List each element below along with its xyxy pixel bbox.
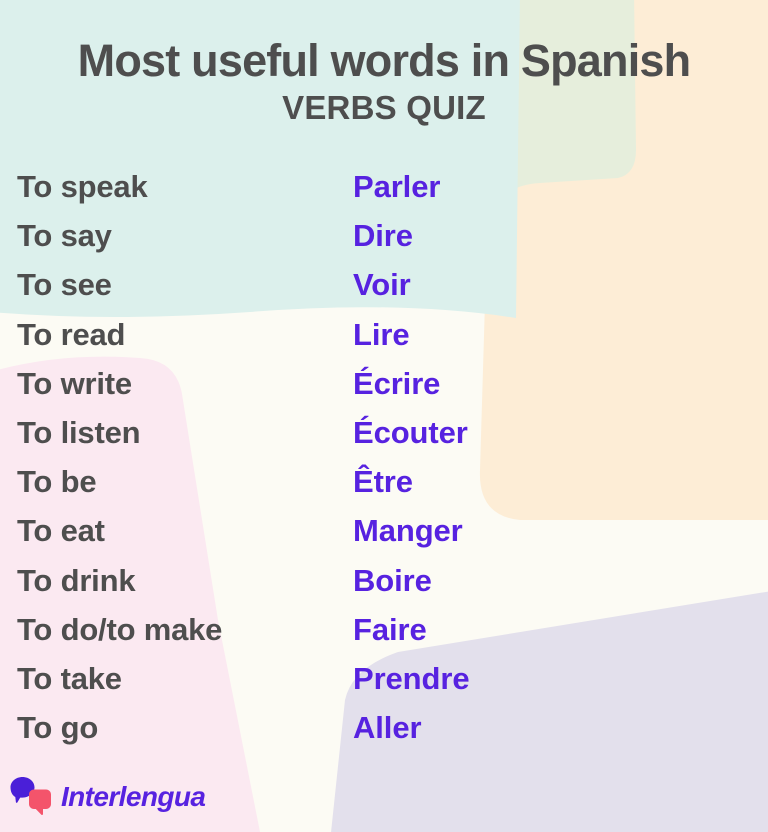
header: Most useful words in Spanish VERBS QUIZ xyxy=(0,0,768,125)
target-word: Prendre xyxy=(353,654,469,703)
target-word: Aller xyxy=(353,703,469,752)
source-word: To be xyxy=(17,457,222,506)
source-word: To see xyxy=(17,260,222,309)
source-word: To write xyxy=(17,359,222,408)
source-word: To do/to make xyxy=(17,605,222,654)
target-word: Être xyxy=(353,457,469,506)
target-word: Faire xyxy=(353,605,469,654)
target-word: Boire xyxy=(353,556,469,605)
page-title: Most useful words in Spanish xyxy=(0,0,768,85)
source-word: To drink xyxy=(17,556,222,605)
target-word: Parler xyxy=(353,162,469,211)
page-subtitle: VERBS QUIZ xyxy=(0,85,768,126)
brand-logo[interactable]: Interlengua xyxy=(8,776,205,818)
source-word: To read xyxy=(17,310,222,359)
target-word: Lire xyxy=(353,310,469,359)
speech-bubbles-icon xyxy=(8,776,54,818)
poster-canvas: Most useful words in Spanish VERBS QUIZ … xyxy=(0,0,768,832)
target-word: Voir xyxy=(353,260,469,309)
target-word: Écouter xyxy=(353,408,469,457)
source-word: To eat xyxy=(17,506,222,555)
target-language-column: Parler Dire Voir Lire Écrire Écouter Êtr… xyxy=(353,162,469,752)
target-word: Dire xyxy=(353,211,469,260)
source-word: To go xyxy=(17,703,222,752)
source-word: To take xyxy=(17,654,222,703)
source-language-column: To speak To say To see To read To write … xyxy=(17,162,222,752)
target-word: Manger xyxy=(353,506,469,555)
source-word: To say xyxy=(17,211,222,260)
brand-name: Interlengua xyxy=(61,783,205,811)
target-word: Écrire xyxy=(353,359,469,408)
source-word: To speak xyxy=(17,162,222,211)
source-word: To listen xyxy=(17,408,222,457)
